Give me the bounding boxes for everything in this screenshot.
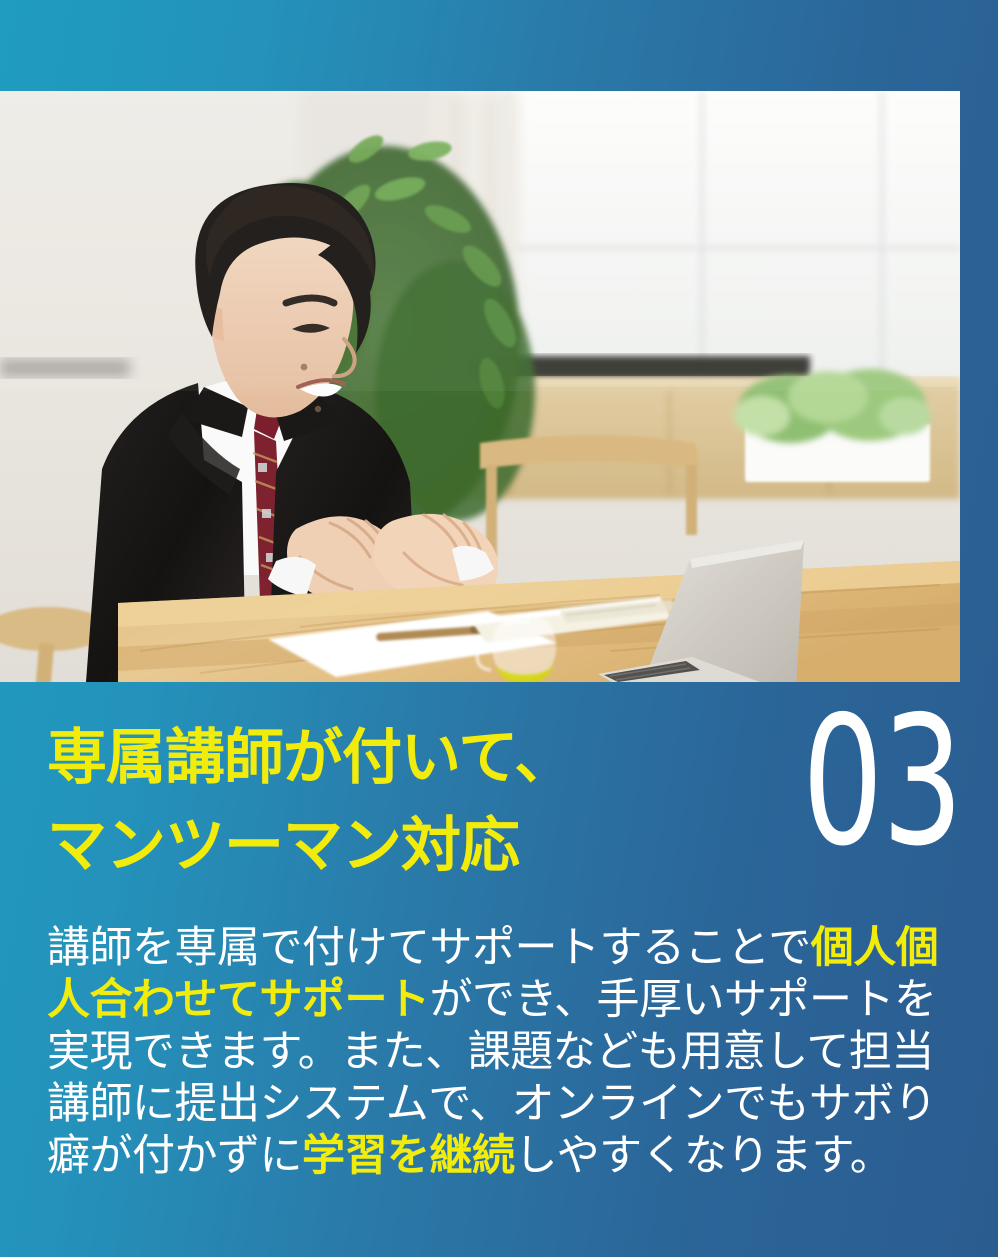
card-heading: 専属講師が付いて、 マンツーマン対応: [47, 714, 687, 890]
hero-photo: [0, 91, 960, 682]
body-line-5-highlight: 学習を継続: [302, 1131, 515, 1181]
body-line-2: 人合わせてサポートができ、手厚いサポートを: [47, 974, 951, 1026]
step-number-badge: 03: [802, 693, 962, 871]
body-line-5: 癖が付かずに学習を継続しやすくなります。: [47, 1130, 951, 1182]
feature-card: 03 専属講師が付いて、 マンツーマン対応 講師を専属で付けてサポートすることで…: [0, 0, 998, 1257]
body-line-2-highlight: 人合わせてサポート: [47, 975, 430, 1025]
body-line-2-plain: ができ、手厚いサポートを: [430, 975, 937, 1025]
card-body-text: 講師を専属で付けてサポートすることで個人個 人合わせてサポートができ、手厚いサポ…: [47, 922, 951, 1182]
body-line-3: 実現できます。また、課題なども用意して担当: [47, 1026, 951, 1078]
heading-line-1: 専属講師が付いて、: [47, 714, 687, 802]
body-line-1-highlight: 個人個: [811, 923, 939, 973]
body-line-5-plain-start: 癖が付かずに: [47, 1131, 302, 1181]
body-line-1-plain: 講師を専属で付けてサポートすることで: [47, 923, 811, 973]
heading-line-2: マンツーマン対応: [47, 802, 687, 890]
body-line-4: 講師に提出システムで、オンラインでもサボり: [47, 1078, 951, 1130]
body-line-5-plain-end: しやすくなります。: [515, 1131, 893, 1181]
body-line-1: 講師を専属で付けてサポートすることで個人個: [47, 922, 951, 974]
